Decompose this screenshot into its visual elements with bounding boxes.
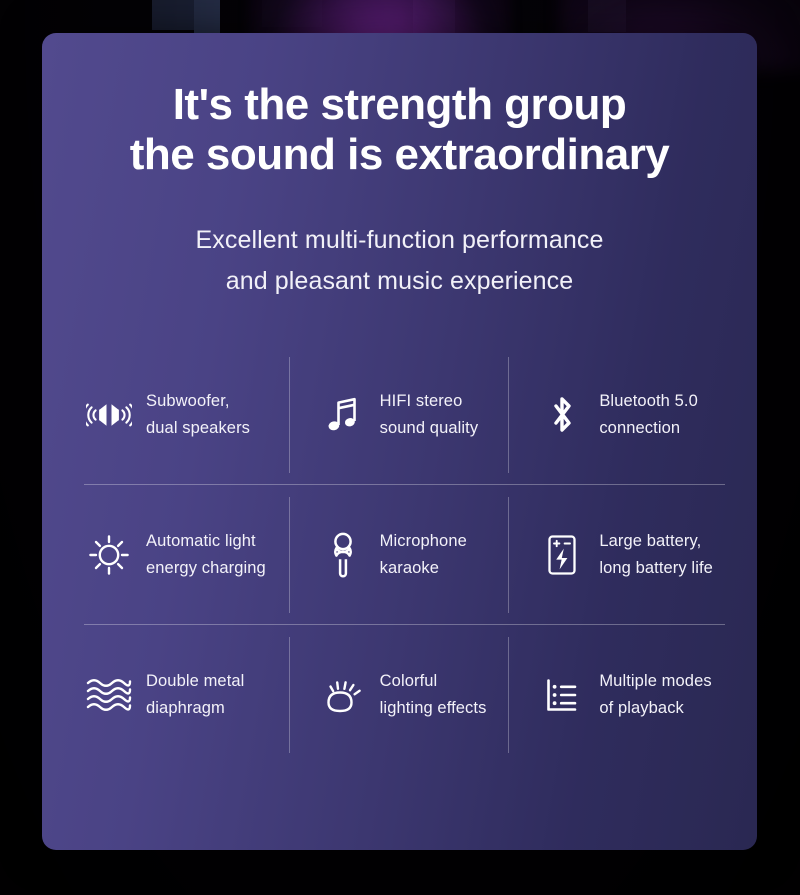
feature-label: Automatic light energy charging (146, 528, 266, 582)
feature-label-line-1: Large battery, (599, 532, 701, 550)
playlist-icon (537, 670, 587, 720)
feature-item-hifi-stereo[interactable]: HIFI stereo sound quality (290, 345, 510, 485)
feature-label-line-2: energy charging (146, 555, 266, 582)
headings-block: It's the strength group the sound is ext… (42, 33, 757, 302)
feature-label-line-1: Bluetooth 5.0 (599, 392, 698, 410)
bluetooth-icon (537, 390, 587, 440)
feature-item-solar-charging[interactable]: Automatic light energy charging (70, 485, 290, 625)
feature-label-line-1: HIFI stereo (380, 392, 463, 410)
feature-card-panel: It's the strength group the sound is ext… (42, 33, 757, 850)
feature-label: Colorful lighting effects (380, 668, 487, 722)
feature-label: Microphone karaoke (380, 528, 467, 582)
feature-item-lighting[interactable]: Colorful lighting effects (290, 625, 510, 765)
feature-item-microphone[interactable]: Microphone karaoke (290, 485, 510, 625)
page-subtitle-line-2: and pleasant music experience (42, 261, 757, 302)
feature-label: Double metal diaphragm (146, 668, 244, 722)
feature-label: Subwoofer, dual speakers (146, 388, 250, 442)
feature-label-line-2: diaphragm (146, 695, 244, 722)
feature-label: Large battery, long battery life (599, 528, 713, 582)
feature-label: HIFI stereo sound quality (380, 388, 479, 442)
feature-label-line-2: sound quality (380, 415, 479, 442)
feature-label: Multiple modes of playback (599, 668, 711, 722)
feature-label-line-1: Multiple modes (599, 672, 711, 690)
feature-label-line-2: of playback (599, 695, 711, 722)
feature-label-line-1: Subwoofer, (146, 392, 230, 410)
feature-item-bluetooth[interactable]: Bluetooth 5.0 connection (509, 345, 729, 485)
page-title-line-2: the sound is extraordinary (42, 130, 757, 180)
feature-item-diaphragm[interactable]: Double metal diaphragm (70, 625, 290, 765)
feature-item-subwoofer[interactable]: Subwoofer, dual speakers (70, 345, 290, 485)
dual-speaker-icon (84, 390, 134, 440)
feature-label-line-1: Automatic light (146, 532, 256, 550)
feature-label-line-2: lighting effects (380, 695, 487, 722)
sound-waves-icon (84, 670, 134, 720)
feature-label-line-1: Double metal (146, 672, 244, 690)
feature-item-playback-modes[interactable]: Multiple modes of playback (509, 625, 729, 765)
page-subtitle-line-1: Excellent multi-function performance (42, 220, 757, 261)
feature-item-battery[interactable]: Large battery, long battery life (509, 485, 729, 625)
battery-bolt-icon (537, 530, 587, 580)
lamp-light-icon (318, 670, 368, 720)
feature-label-line-1: Microphone (380, 532, 467, 550)
feature-label-line-2: connection (599, 415, 698, 442)
music-note-icon (318, 390, 368, 440)
feature-label: Bluetooth 5.0 connection (599, 388, 698, 442)
page-subtitle: Excellent multi-function performance and… (42, 220, 757, 302)
feature-label-line-2: long battery life (599, 555, 713, 582)
feature-label-line-2: karaoke (380, 555, 467, 582)
page-title-line-1: It's the strength group (42, 80, 757, 130)
feature-label-line-1: Colorful (380, 672, 438, 690)
microphone-icon (318, 530, 368, 580)
feature-label-line-2: dual speakers (146, 415, 250, 442)
feature-grid: Subwoofer, dual speakers HIFI stereo sou… (70, 345, 729, 765)
sun-icon (84, 530, 134, 580)
